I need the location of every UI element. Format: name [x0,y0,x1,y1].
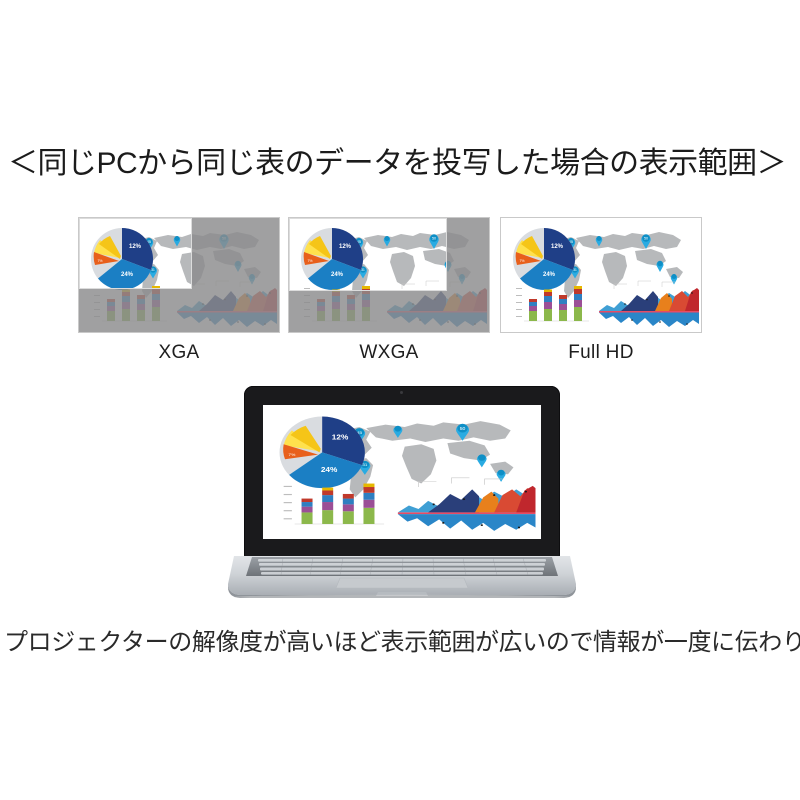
svg-text:50: 50 [222,237,226,241]
projection-panel-fullhd: 45 50 31 12% 24% 7% [500,217,702,333]
svg-text:31: 31 [151,268,155,272]
footer-caption: プロジェクターの解像度が高いほど表示範囲が広いので情報が一度に伝わります。 [4,628,796,658]
svg-text:31: 31 [362,462,368,467]
dashboard-graphic-fullhd: 45 50 31 12% 24% 7% [501,218,702,333]
svg-text:24%: 24% [121,272,134,278]
projection-panel-wxga: 45 50 31 12% 24% 7% [288,217,490,333]
panel-label-fullhd: Full HD [500,342,702,364]
dashboard-graphic-xga: 45 50 31 12% [79,218,280,333]
svg-text:7%: 7% [307,259,312,263]
page-title: ＜同じPCから同じ表のデータを投写した場合の表示範囲＞ [8,147,792,181]
svg-text:50: 50 [460,426,466,431]
svg-text:31: 31 [573,268,577,272]
svg-text:31: 31 [361,268,365,272]
projection-panel-xga: 45 50 31 12% [78,217,280,333]
svg-text:24%: 24% [543,272,556,278]
laptop-illustration: 45 50 31 12% [228,386,576,598]
svg-text:7%: 7% [519,259,524,263]
laptop-base [228,554,576,598]
svg-text:24%: 24% [321,466,338,474]
svg-text:12%: 12% [129,244,142,250]
laptop-lid: 45 50 31 12% [244,386,560,558]
laptop-screen: 45 50 31 12% [263,405,541,539]
svg-text:7%: 7% [97,259,102,263]
svg-text:50: 50 [644,237,648,241]
svg-text:12%: 12% [339,244,352,250]
svg-text:12%: 12% [332,433,349,441]
panel-label-wxga: WXGA [288,342,490,364]
svg-text:7%: 7% [288,452,295,457]
slide-canvas: ＜同じPCから同じ表のデータを投写した場合の表示範囲＞ 45 [0,0,800,800]
panel-label-xga: XGA [78,342,280,364]
svg-text:12%: 12% [551,244,564,250]
svg-text:50: 50 [432,237,436,241]
svg-text:24%: 24% [331,272,344,278]
dashboard-graphic-wxga: 45 50 31 12% 24% 7% [289,218,490,333]
